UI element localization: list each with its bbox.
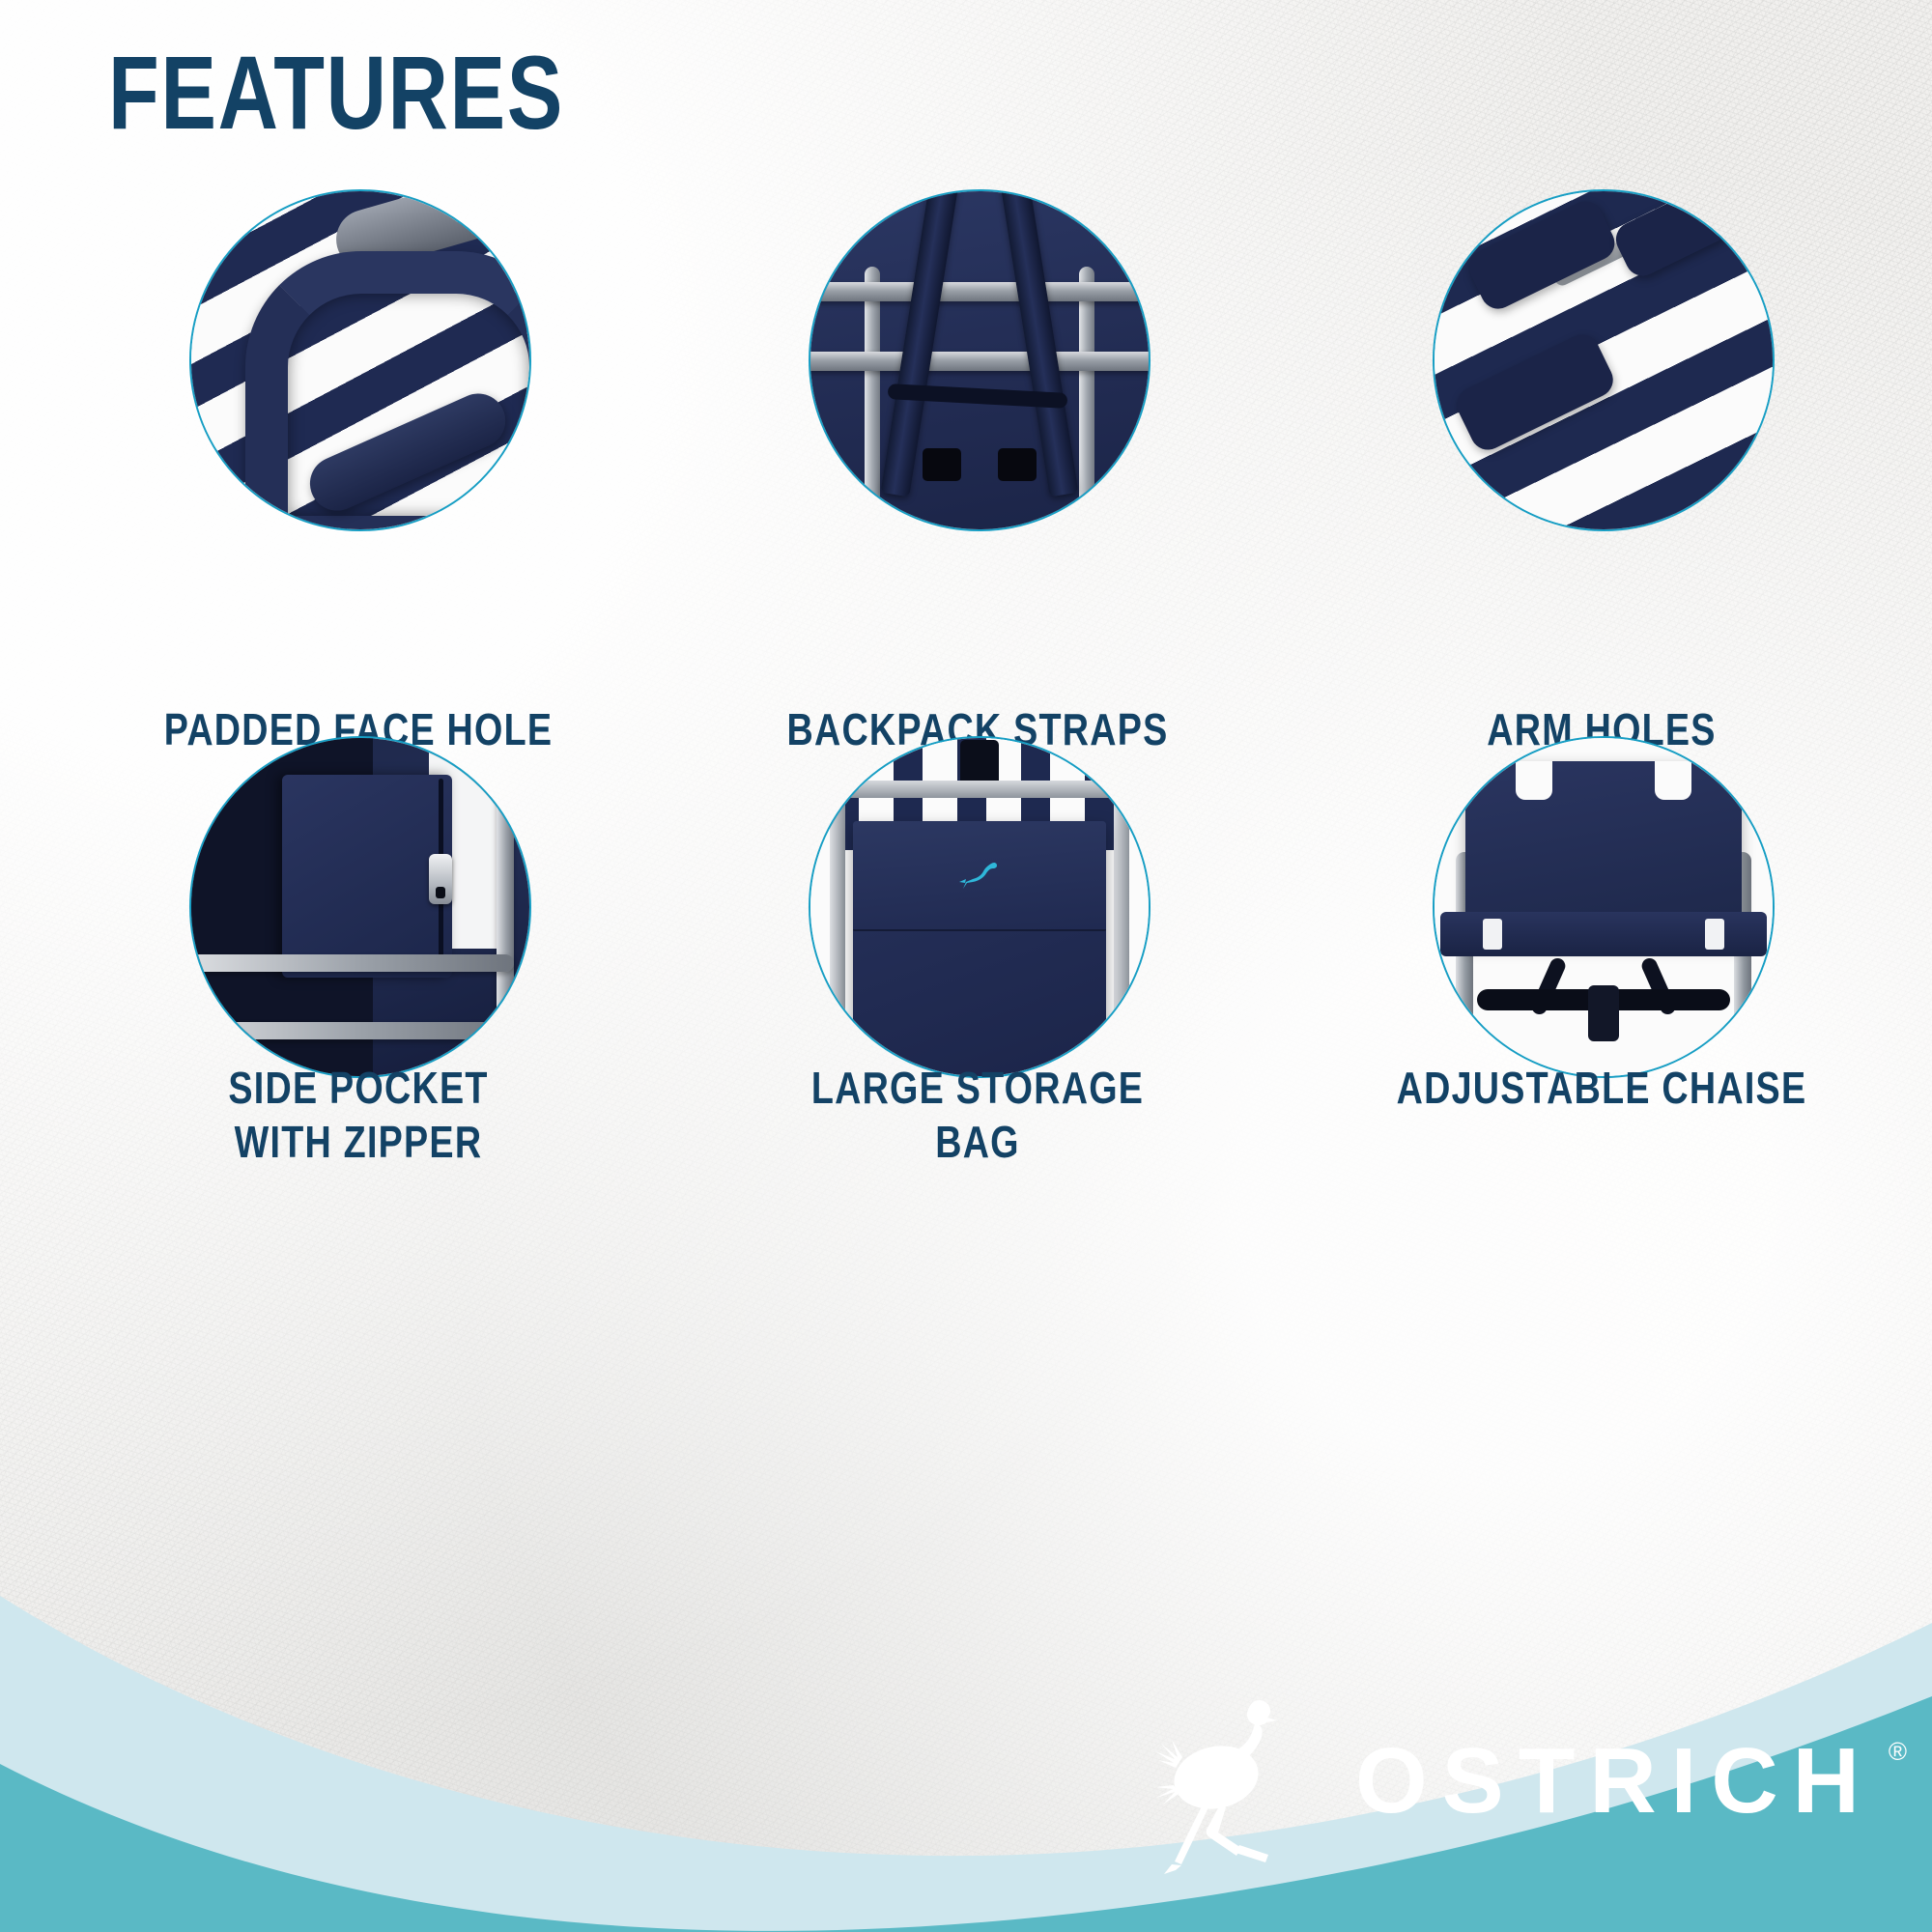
feature-caption-side-pocket: SIDE POCKET WITH ZIPPER (57, 1061, 659, 1169)
ostrich-embroidery-icon (951, 858, 1009, 896)
running-ostrich-icon (1154, 1685, 1319, 1878)
brand-logo: OSTRICH ® (1154, 1685, 1874, 1878)
side-pocket-zipper-photo (189, 736, 531, 1078)
padded-face-hole-photo (189, 189, 531, 531)
feature-caption-storage-bag: LARGE STORAGE BAG (676, 1061, 1278, 1169)
large-storage-bag-photo (809, 736, 1151, 1078)
registered-trademark-mark: ® (1889, 1739, 1907, 1764)
adjustable-chaise-photo (1433, 736, 1775, 1078)
backpack-straps-photo (809, 189, 1151, 531)
arm-holes-photo (1433, 189, 1775, 531)
feature-caption-adjustable-chaise: ADJUSTABLE CHAISE (1300, 1061, 1902, 1115)
brand-name: OSTRICH (1355, 1729, 1874, 1833)
brand-wordmark: OSTRICH ® (1355, 1735, 1874, 1828)
page-title: FEATURES (108, 41, 564, 145)
